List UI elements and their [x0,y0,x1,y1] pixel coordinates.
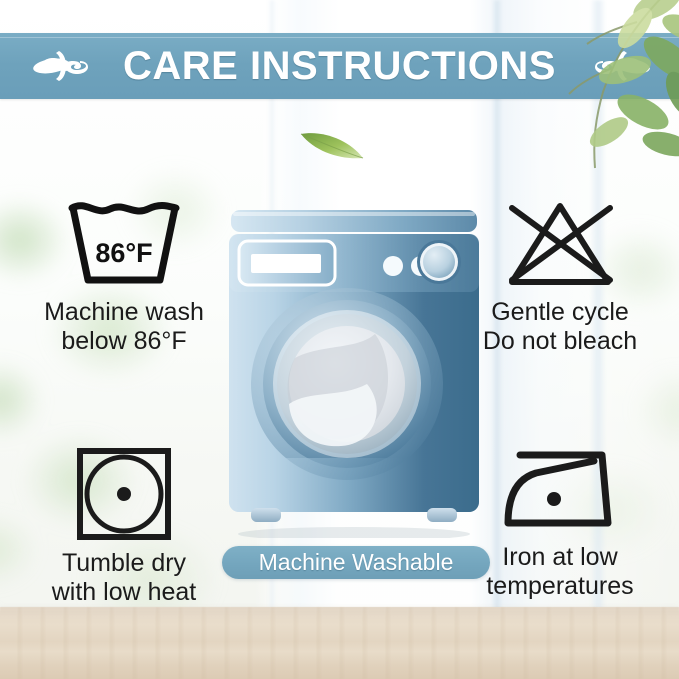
table-wood-grain [0,607,679,679]
care-symbol-label: Iron at low temperatures [486,543,633,602]
tumble-dry-low-icon [72,445,176,543]
care-symbol-tumble-dry: Tumble dry with low heat [18,445,230,608]
care-symbol-label: Gentle cycle Do not bleach [483,298,637,357]
banner: CARE INSTRUCTIONS [0,33,679,99]
care-symbol-machine-wash: 86°F Machine wash below 86°F [18,196,230,357]
wooden-table-surface [0,607,679,679]
care-symbol-label: Machine wash below 86°F [44,298,204,357]
care-symbol-do-not-bleach: Gentle cycle Do not bleach [452,196,668,357]
status-badge: Machine Washable [222,546,490,579]
care-symbol-iron: Iron at low temperatures [452,445,668,602]
page-title: CARE INSTRUCTIONS [0,33,679,99]
washing-machine-dial [225,208,483,538]
washing-machine-illustration [225,208,483,538]
floating-leaf-icon [297,128,367,169]
wash-temperature-label: 86°F [62,196,186,292]
no-bleach-triangle-icon [498,196,622,292]
care-instructions-graphic: CARE INSTRUCTIONS [0,0,679,679]
iron-low-temperature-icon [498,445,622,537]
care-symbol-label: Tumble dry with low heat [52,549,197,608]
wash-basin-icon: 86°F [62,196,186,292]
